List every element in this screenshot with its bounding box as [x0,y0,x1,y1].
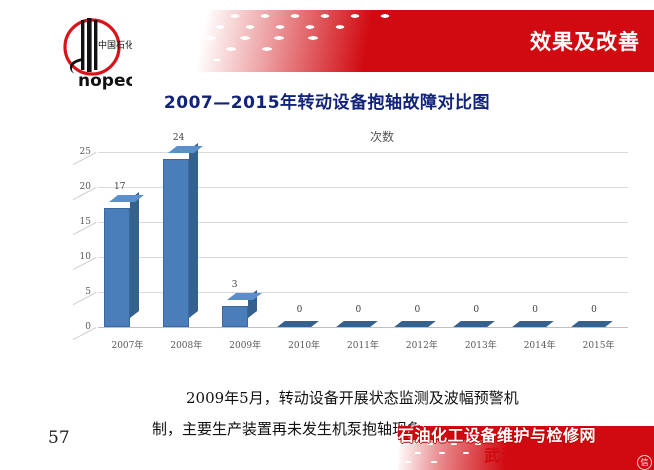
bar-face [222,306,248,327]
bar-data-label: 0 [473,305,479,315]
bar-3d [163,159,189,327]
halftone-pattern-decoration [135,10,435,72]
y-axis-title: 次数 [370,128,394,145]
bar-chart: 次数 0510152025172007年242008年32009年02010年0… [60,122,640,362]
bar-data-label: 17 [114,182,125,192]
x-axis-tick-label: 2010年 [275,338,334,351]
bar-zero [277,321,319,327]
bar-zero [336,321,378,327]
x-axis-tick-label: 2014年 [510,338,569,351]
x-axis-tick-label: 2009年 [216,338,275,351]
bar-slot: 3 [216,152,275,327]
page-number: 57 [48,428,70,448]
bar-slot: 24 [157,152,216,327]
x-axis-tick-label: 2007年 [98,338,157,351]
watermark-seal-icon: 信 [637,455,652,470]
bar-slot: 0 [275,152,334,327]
bar-slot: 0 [510,152,569,327]
bar-slot: 0 [569,152,628,327]
bar-zero [512,321,554,327]
header-banner: 效果及改善 [135,10,654,72]
bar-data-label: 24 [173,133,184,143]
x-axis-tick-label: 2013年 [451,338,510,351]
chart-plot-area: 0510152025172007年242008年32009年02010年0201… [98,152,628,327]
bar-zero [571,321,613,327]
bar-data-label: 0 [414,305,420,315]
bar-slot: 17 [98,152,157,327]
body-line-1: 2009年5月，转动设备开展状态监测及波幅预警机 [152,383,632,414]
bar-slot: 0 [392,152,451,327]
x-axis-tick-label: 2012年 [392,338,451,351]
bar-slot: 0 [451,152,510,327]
bar-zero [453,321,495,327]
bar-3d [222,306,248,327]
gridline [98,327,628,328]
bar-side [130,192,139,318]
bar-data-label: 0 [532,305,538,315]
slide-header: 效果及改善 中国石化 nopec [0,0,654,88]
watermark-branch-name: 武汉分公司 [484,442,569,466]
x-axis-tick-label: 2011年 [334,338,393,351]
banner-title: 效果及改善 [530,26,640,56]
bar-data-label: 0 [356,305,362,315]
x-axis-tick-label: 2015年 [569,338,628,351]
bar-data-label: 0 [297,305,303,315]
watermark: 石油化工设备维护与检修网 武汉分公司 信 [398,418,654,470]
slide: 效果及改善 中国石化 nopec 2007—2015年转动设备抱轴故障对比图 次… [0,0,654,470]
chart-title: 2007—2015年转动设备抱轴故障对比图 [0,88,654,113]
bar-side [189,143,198,318]
bar-zero [395,321,437,327]
x-axis-tick-label: 2008年 [157,338,216,351]
bar-slot: 0 [334,152,393,327]
sinopec-logo: 中国石化 nopec [52,14,132,90]
bar-face [104,208,130,327]
bar-data-label: 3 [232,280,238,290]
bar-3d [104,208,130,327]
bar-face [163,159,189,327]
bar-data-label: 0 [591,305,597,315]
svg-text:中国石化: 中国石化 [98,39,132,51]
